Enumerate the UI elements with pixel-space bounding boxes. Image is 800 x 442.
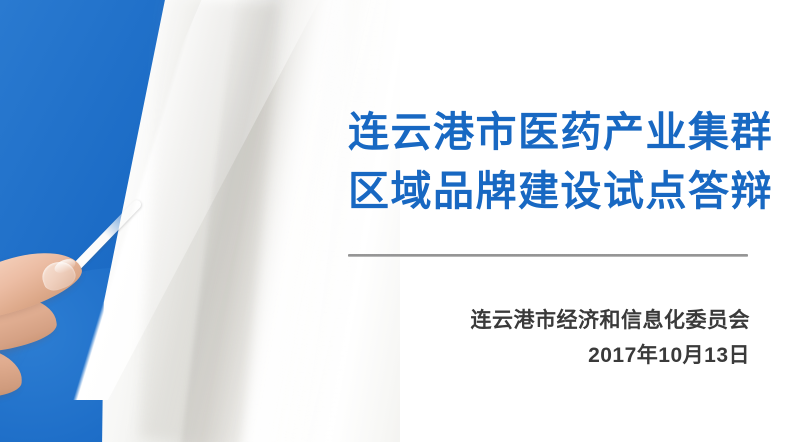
presenter-meta: 连云港市经济和信息化委员会 2017年10月13日 [348,303,750,373]
content-column: 连云港市医药产业集群 区域品牌建设试点答辩 连云港市经济和信息化委员会 2017… [348,0,750,442]
title-divider [348,254,748,257]
hand-illustration [0,252,140,442]
title-line-2: 区域品牌建设试点答辩 [348,162,772,221]
organization-name: 连云港市经济和信息化委员会 [348,303,750,339]
presentation-title: 连云港市医药产业集群 区域品牌建设试点答辩 [348,103,772,221]
page-turn-illustration [0,0,400,442]
title-line-1: 连云港市医药产业集群 [348,103,772,162]
presentation-date: 2017年10月13日 [348,339,750,373]
title-slide: 连云港市医药产业集群 区域品牌建设试点答辩 连云港市经济和信息化委员会 2017… [0,0,800,442]
